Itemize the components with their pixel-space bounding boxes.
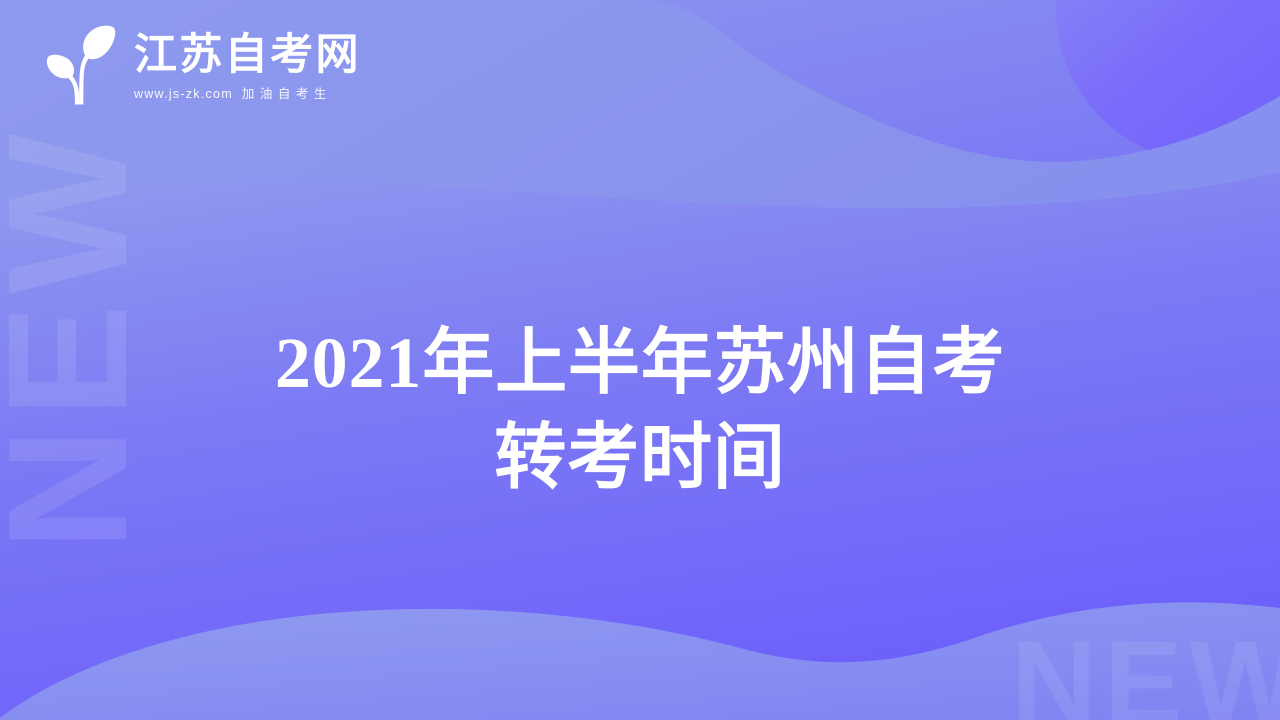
logo-subtitle-url: www.js-zk.com [134, 88, 233, 101]
logo-subtitle: www.js-zk.com 加油自考生 [134, 88, 361, 101]
logo-title: 江苏自考网 [134, 34, 361, 77]
page-title-line-2: 转考时间 [150, 411, 1130, 506]
page-title: 2021年上半年苏州自考 转考时间 [0, 316, 1280, 506]
decor-circle-top-right [1056, 0, 1280, 162]
logo-subtitle-slogan: 加油自考生 [242, 88, 332, 101]
sprout-icon [34, 22, 120, 108]
poster-canvas: NEW NEW 江苏自考网 www.js-zk.com 加油自考生 2021年上… [0, 0, 1280, 720]
site-logo[interactable]: 江苏自考网 www.js-zk.com 加油自考生 [34, 22, 361, 108]
logo-text-block: 江苏自考网 www.js-zk.com 加油自考生 [134, 30, 361, 101]
page-title-line-1: 2021年上半年苏州自考 [150, 316, 1130, 411]
watermark-bottom-right-news: NEW [1011, 624, 1280, 720]
